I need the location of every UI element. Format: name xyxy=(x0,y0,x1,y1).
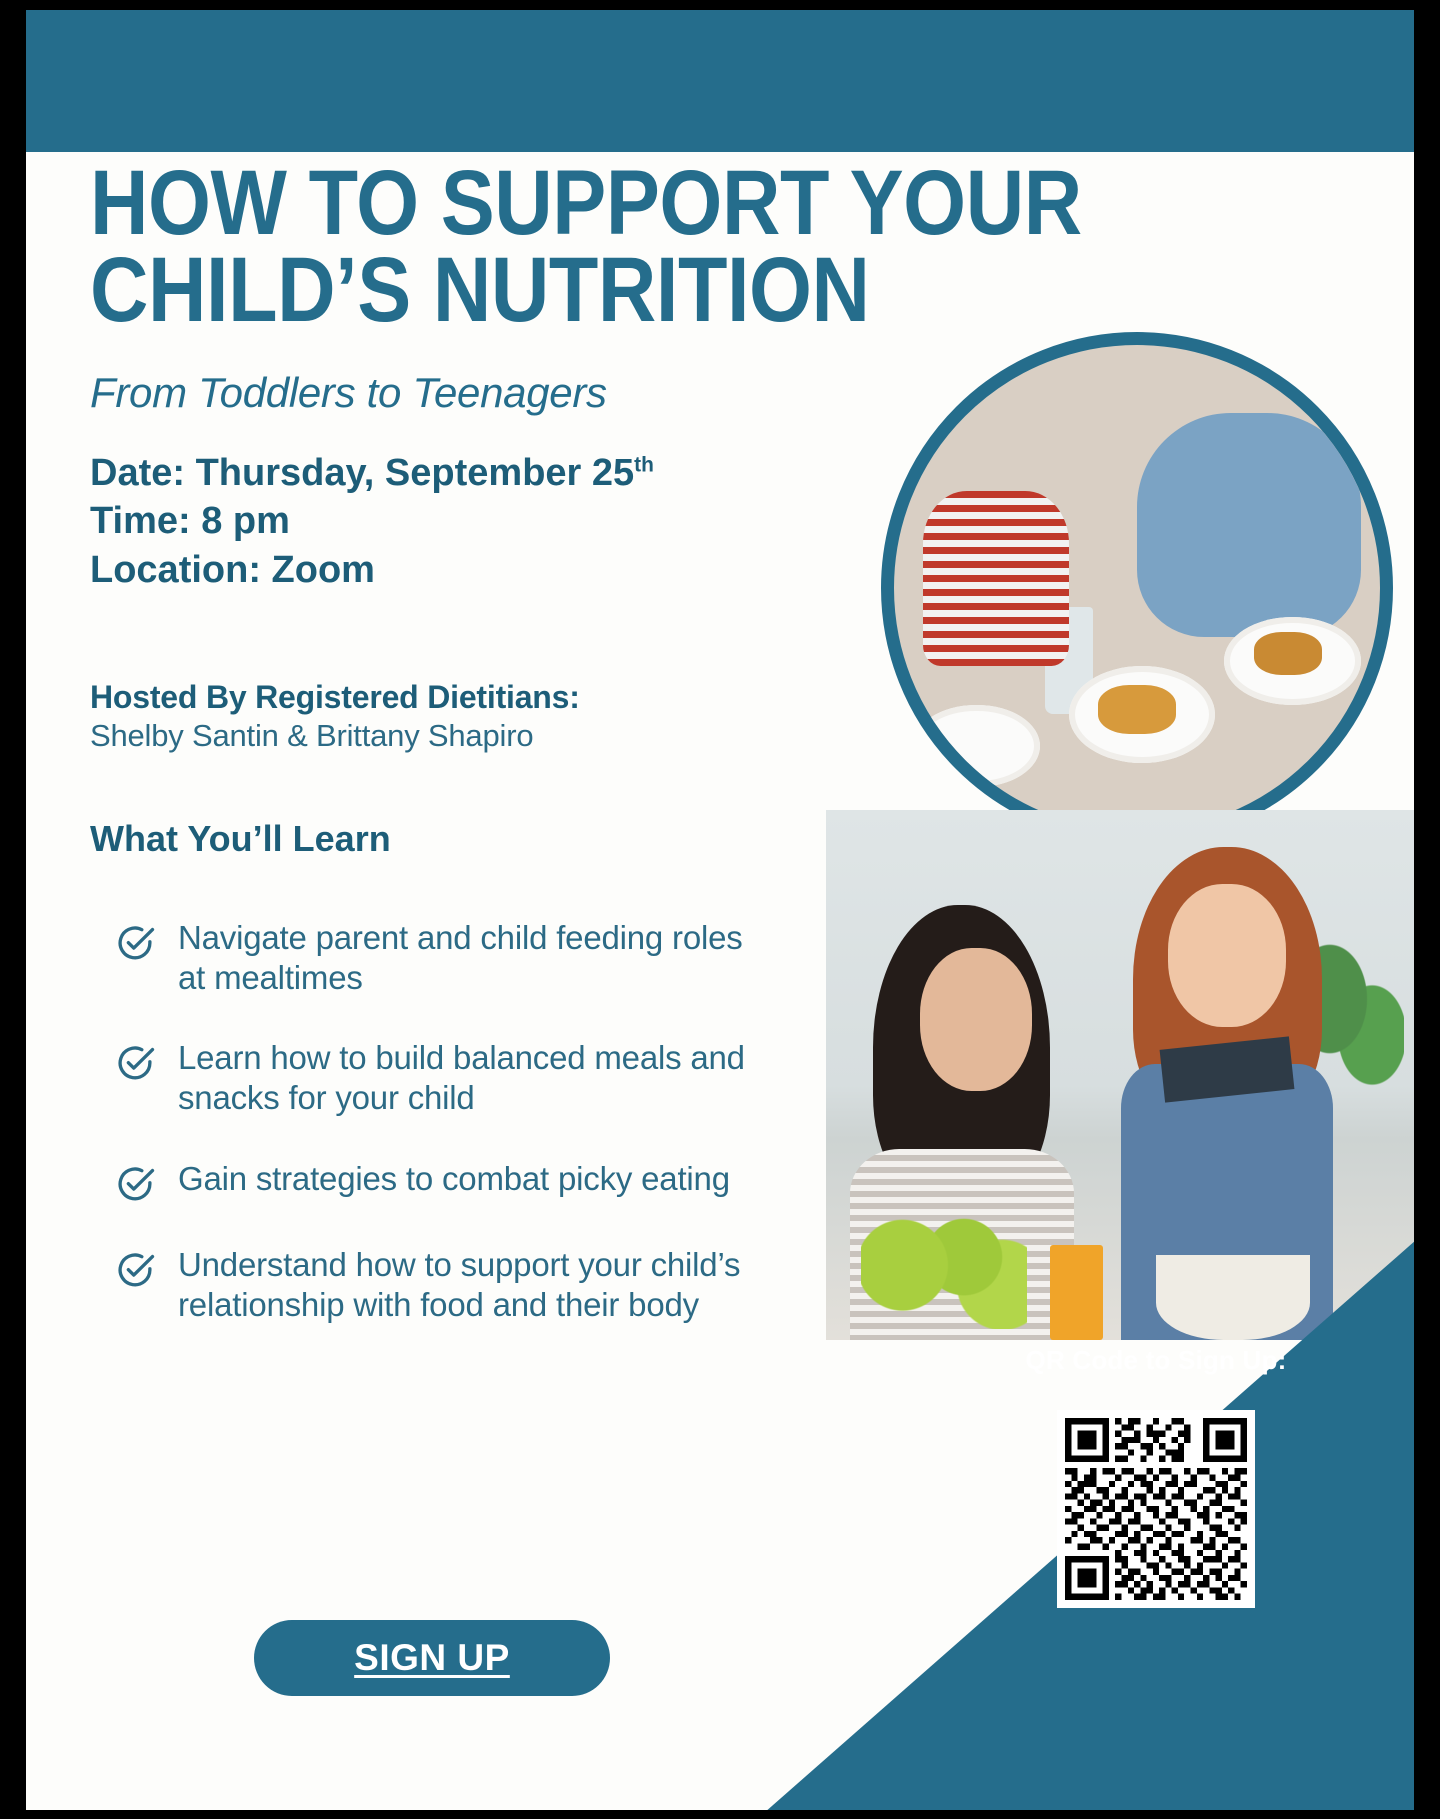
event-date-row: Date: Thursday, September 25th xyxy=(90,449,900,498)
mother-head-shape xyxy=(920,948,1032,1091)
hosted-by-block: Hosted By Registered Dietitians: Shelby … xyxy=(90,679,900,754)
qr-code-image[interactable] xyxy=(1057,1410,1255,1608)
food-center-shape xyxy=(1098,685,1176,734)
check-circle-icon xyxy=(114,1163,156,1205)
what-you-will-learn-heading: What You’ll Learn xyxy=(90,818,900,860)
sign-up-button[interactable]: SIGN UP xyxy=(254,1620,610,1696)
list-item-label: Learn how to build balanced meals and sn… xyxy=(178,1038,758,1119)
time-value: 8 pm xyxy=(201,500,290,542)
page-title-line-2: CHILD’S NUTRITION xyxy=(90,247,803,334)
event-details: Date: Thursday, September 25th Time: 8 p… xyxy=(90,449,900,595)
food-right-shape xyxy=(1254,632,1322,676)
list-item-label: Understand how to support your child’s r… xyxy=(178,1245,758,1326)
flyer-sheet: QR Code to Sign Up: xyxy=(26,10,1414,1810)
page-subtitle: From Toddlers to Teenagers xyxy=(90,369,900,417)
list-item-label: Navigate parent and child feeding roles … xyxy=(178,918,758,999)
time-label: Time: xyxy=(90,500,191,542)
check-circle-icon xyxy=(114,1042,156,1084)
learn-list: Navigate parent and child feeding roles … xyxy=(90,918,900,1326)
location-label: Location: xyxy=(90,549,261,591)
circle-photo-family-dinner xyxy=(881,332,1393,844)
date-ordinal: th xyxy=(634,453,654,476)
list-item-label: Gain strategies to combat picky eating xyxy=(178,1159,730,1199)
check-circle-icon xyxy=(114,1249,156,1291)
location-value: Zoom xyxy=(272,549,375,591)
mixing-bowl-shape xyxy=(1156,1255,1309,1340)
list-item: Gain strategies to combat picky eating xyxy=(90,1159,900,1205)
page-title: HOW TO SUPPORT YOUR CHILD’S NUTRITION xyxy=(90,160,803,335)
lower-photo-kitchen xyxy=(826,810,1414,1340)
list-item: Navigate parent and child feeding roles … xyxy=(90,918,900,999)
kitchen-photo-art xyxy=(826,810,1414,1340)
content-column: HOW TO SUPPORT YOUR CHILD’S NUTRITION Fr… xyxy=(90,160,900,1365)
dining-photo-art xyxy=(894,345,1380,831)
list-item: Understand how to support your child’s r… xyxy=(90,1245,900,1326)
date-label: Date: xyxy=(90,452,185,494)
daughter-head-shape xyxy=(1168,884,1286,1027)
qr-code-label: QR Code to Sign Up: xyxy=(966,1345,1346,1376)
top-color-band xyxy=(26,10,1414,152)
check-circle-icon xyxy=(114,922,156,964)
plate-left-shape xyxy=(913,705,1039,788)
event-location-row: Location: Zoom xyxy=(90,546,900,595)
qr-code-svg xyxy=(1065,1418,1247,1600)
juice-glass-shape xyxy=(1050,1245,1103,1340)
event-time-row: Time: 8 pm xyxy=(90,497,900,546)
hosted-by-title: Hosted By Registered Dietitians: xyxy=(90,679,900,716)
list-item: Learn how to build balanced meals and sn… xyxy=(90,1038,900,1119)
hosted-by-names: Shelby Santin & Brittany Shapiro xyxy=(90,718,900,754)
date-value: Thursday, September 25 xyxy=(196,452,635,494)
flyer-page: QR Code to Sign Up: xyxy=(0,0,1440,1819)
